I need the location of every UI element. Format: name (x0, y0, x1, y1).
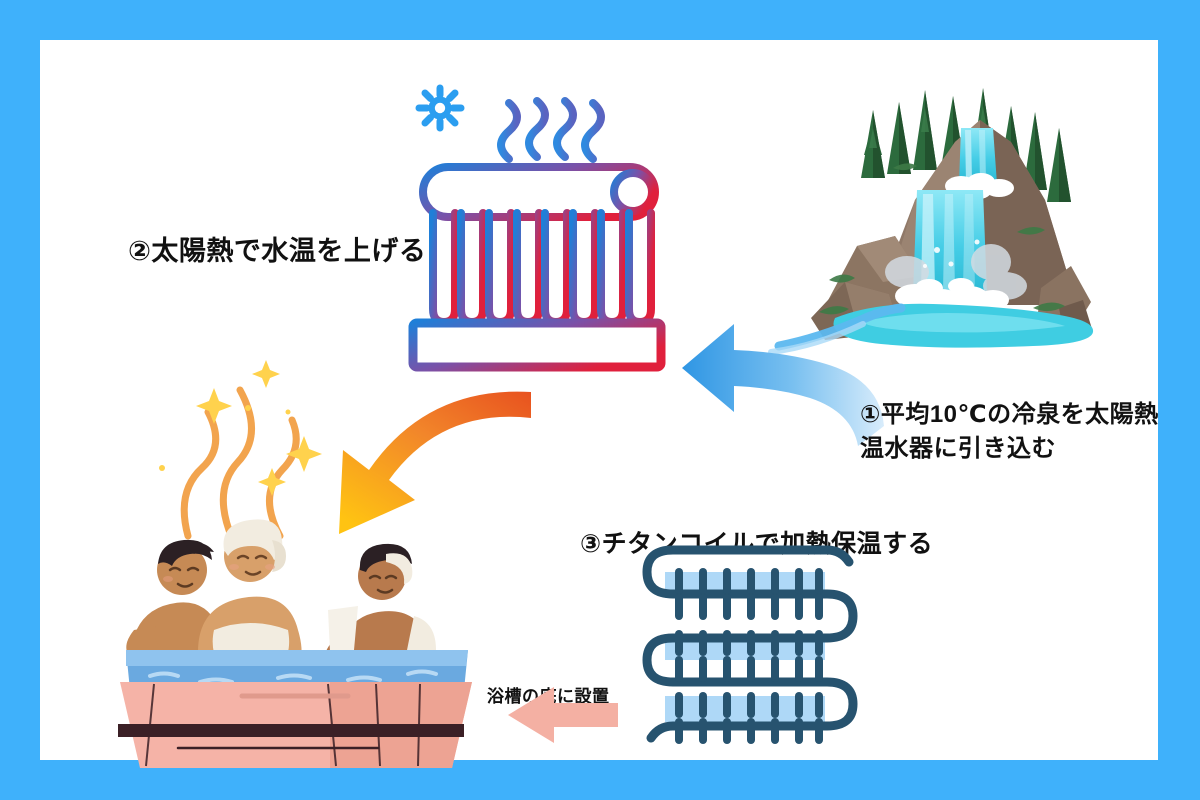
caption-step1: ①平均10℃の冷泉を太陽熱温水器に引き込む (860, 398, 1180, 466)
collector-base (413, 323, 661, 367)
bathtub-illustration (90, 480, 510, 770)
arrow-shape (508, 687, 618, 743)
tub-body (118, 682, 472, 768)
bather-center (198, 519, 302, 664)
cup-icon (328, 606, 358, 652)
blue-frame: ②太陽熱で水温を上げる ①平均10℃の冷泉を太陽熱温水器に引き込む (0, 0, 1200, 800)
tub-hoop-band (118, 724, 464, 737)
bathtub-svg (90, 480, 510, 770)
waterfall-svg (765, 50, 1095, 350)
arrow-coil-to-tub (450, 685, 620, 745)
collector-fins (433, 213, 651, 322)
titanium-coil-svg (615, 530, 875, 750)
arrow-coil-to-tub-svg (450, 685, 620, 745)
white-panel: ②太陽熱で水温を上げる ①平均10℃の冷泉を太陽熱温水器に引き込む (40, 40, 1158, 760)
snowflake-icon (419, 88, 461, 128)
caption-step2: ②太陽熱で水温を上げる (128, 232, 426, 270)
solar-collector-svg (385, 55, 675, 375)
arrow-spring-to-collector-svg (670, 308, 890, 428)
arrow-spring-to-collector (670, 308, 890, 428)
titanium-coil-illustration (615, 530, 875, 750)
collector-valve-icon (614, 173, 652, 211)
waterfall-illustration (765, 50, 1095, 350)
solar-collector-illustration (385, 55, 675, 375)
heat-wave-icons (501, 101, 601, 159)
arrow-shape (682, 324, 884, 446)
